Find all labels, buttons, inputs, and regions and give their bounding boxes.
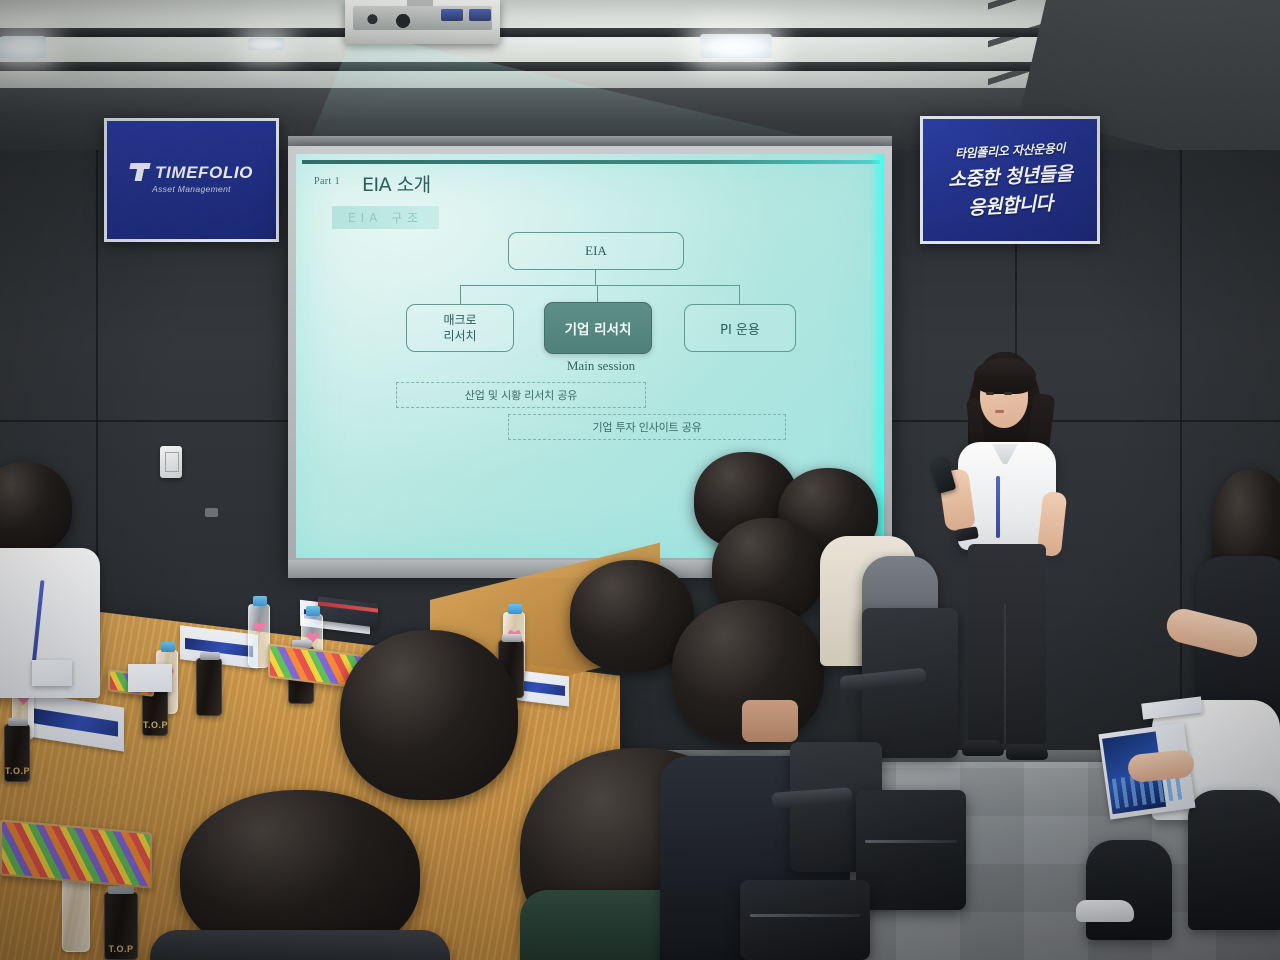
diagram-connector [595, 270, 596, 286]
slide-section-tag: EIA 구조 [332, 206, 439, 229]
diagram-connector [460, 285, 461, 304]
name-badge [32, 660, 72, 686]
diagram-node-corporate-research: 기업 리서치 [544, 302, 652, 354]
ceiling-light [248, 38, 284, 50]
presenter-lanyard [996, 476, 1000, 538]
ceiling-light [700, 34, 772, 58]
projector-vga-port [469, 9, 491, 21]
timefolio-mark-icon [130, 162, 150, 182]
timefolio-logo: TIMEFOLIO Asset Management [130, 162, 253, 194]
name-badge [128, 664, 172, 692]
slide-part-label: Part 1 [314, 176, 340, 187]
presenter-shoe [1006, 744, 1048, 760]
banner-line-1: 타임폴리오 자산운용이 [955, 139, 1066, 162]
diagram-connector [739, 285, 740, 304]
presenter [940, 352, 1070, 822]
slide-top-rule [302, 160, 880, 164]
ceiling-projector [345, 0, 500, 44]
coffee-can-label: T.O.P [143, 720, 167, 730]
slide-title: EIA 소개 [362, 170, 431, 197]
coffee-can: T.O.P [4, 724, 30, 782]
presenter-trousers [968, 544, 1046, 744]
water-bottle [62, 872, 90, 952]
diagram-note-2: 기업 투자 인사이트 공유 [508, 414, 786, 440]
diagram-caption: Main session [526, 358, 676, 374]
coffee-can: T.O.P [104, 892, 138, 960]
brand-tagline: Asset Management [152, 184, 231, 194]
banner-line-2: 소중한 청년들을 [947, 159, 1072, 192]
audience-neck [742, 700, 798, 742]
coffee-can [196, 658, 222, 716]
diagram-node-macro-research: 매크로 리서치 [406, 304, 514, 352]
diagram-node-pi-operation: PI 운용 [684, 304, 796, 352]
presenter-eye [986, 392, 994, 395]
wall-seam [1180, 150, 1182, 790]
audience-torso [150, 930, 450, 960]
timefolio-banner: TIMEFOLIO Asset Management [104, 118, 279, 242]
audience-trousers [1086, 840, 1172, 940]
audience-trousers [1188, 790, 1280, 930]
diagram-node-root: EIA [508, 232, 684, 270]
ceiling-light [0, 36, 46, 58]
water-bottle [248, 604, 270, 668]
diagram-connector [460, 285, 740, 286]
presenter-eye [1004, 392, 1012, 395]
presenter-mouth [995, 410, 1004, 413]
seminar-room-scene: TIMEFOLIO Asset Management 타임폴리오 자산운용이 소… [0, 0, 1280, 960]
presenter-hair-front [974, 358, 1036, 394]
presenter-shoe [962, 740, 1004, 756]
projector-vga-port [441, 9, 463, 21]
banner-line-3: 응원합니다 [967, 188, 1053, 220]
sneaker [1076, 900, 1134, 922]
backpack [740, 880, 870, 960]
wall-outlet [205, 508, 218, 517]
audience-head [340, 630, 518, 800]
diagram-note-1: 산업 및 시황 리서치 공유 [396, 382, 646, 408]
brand-name: TIMEFOLIO [155, 164, 253, 181]
encouragement-banner: 타임폴리오 자산운용이 소중한 청년들을 응원합니다 [920, 116, 1100, 244]
diagram-connector [597, 285, 598, 302]
wall-light-switch[interactable] [160, 446, 182, 478]
